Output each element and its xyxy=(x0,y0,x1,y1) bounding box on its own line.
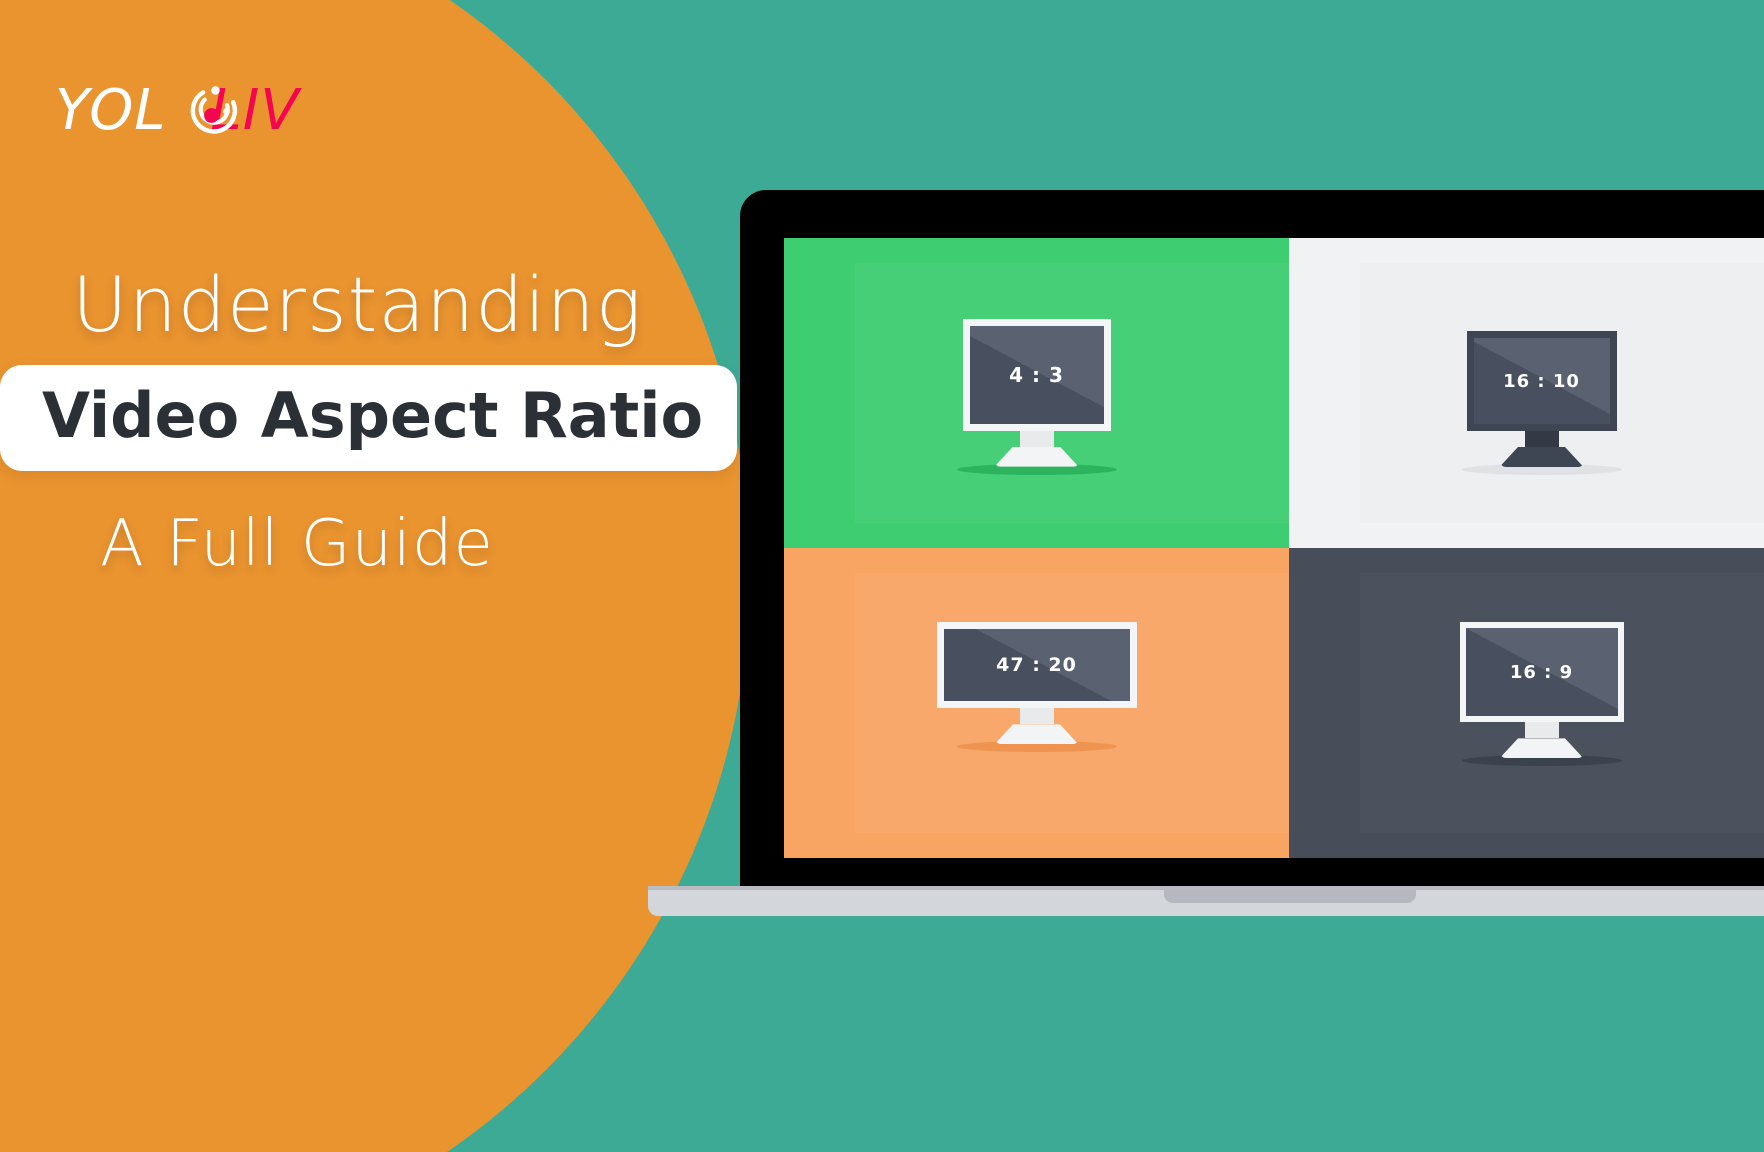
monitor-neck xyxy=(1525,431,1559,447)
poster-canvas: YOL LIV Understanding Video Aspect Ratio… xyxy=(0,0,1764,1152)
monitor-neck xyxy=(1020,708,1054,724)
quadrant-47-20: 47 : 20 xyxy=(784,548,1289,858)
laptop-trackpad-notch xyxy=(1164,890,1416,903)
quadrant-4-3: 4 : 3 xyxy=(784,238,1289,548)
target-dot-icon xyxy=(183,84,243,142)
headline-line-video-aspect-ratio: Video Aspect Ratio xyxy=(42,385,703,447)
monitor-display: 4 : 3 xyxy=(970,326,1104,424)
monitor-display: 16 : 9 xyxy=(1466,628,1618,716)
logo-text-yolo: YOL xyxy=(55,83,167,139)
monitor-16-9: 16 : 9 xyxy=(1460,622,1624,766)
ratio-label: 47 : 20 xyxy=(996,654,1077,676)
ratio-label: 4 : 3 xyxy=(1009,363,1064,387)
monitor-neck xyxy=(1525,722,1559,738)
headline-block: Understanding Video Aspect Ratio A Full … xyxy=(0,262,760,580)
monitor-foot xyxy=(1500,447,1584,467)
monitor-bezel: 4 : 3 xyxy=(963,319,1111,431)
laptop-screen: 4 : 3 16 : 10 xyxy=(784,238,1764,858)
monitor-4-3: 4 : 3 xyxy=(957,319,1117,475)
headline-line-understanding: Understanding xyxy=(0,262,760,347)
monitor-bezel: 47 : 20 xyxy=(937,622,1137,708)
monitor-47-20: 47 : 20 xyxy=(937,622,1137,752)
ratio-label: 16 : 9 xyxy=(1510,662,1573,683)
laptop-illustration: 4 : 3 16 : 10 xyxy=(740,190,1764,910)
monitor-16-10: 16 : 10 xyxy=(1462,331,1622,475)
headline-line-a-full-guide: A Full Guide xyxy=(0,509,760,579)
monitor-foot xyxy=(995,447,1079,467)
monitor-display: 16 : 10 xyxy=(1474,338,1610,424)
monitor-bezel: 16 : 10 xyxy=(1467,331,1617,431)
monitor-foot xyxy=(995,724,1079,744)
quadrant-16-9: 16 : 9 xyxy=(1289,548,1764,858)
monitor-neck xyxy=(1020,431,1054,447)
monitor-foot xyxy=(1500,738,1584,758)
monitor-bezel: 16 : 9 xyxy=(1460,622,1624,722)
headline-pill: Video Aspect Ratio xyxy=(0,365,737,471)
monitor-display: 47 : 20 xyxy=(944,629,1130,701)
ratio-label: 16 : 10 xyxy=(1503,371,1580,392)
quadrant-16-10: 16 : 10 xyxy=(1289,238,1764,548)
yololiv-logo[interactable]: YOL LIV xyxy=(55,78,300,144)
